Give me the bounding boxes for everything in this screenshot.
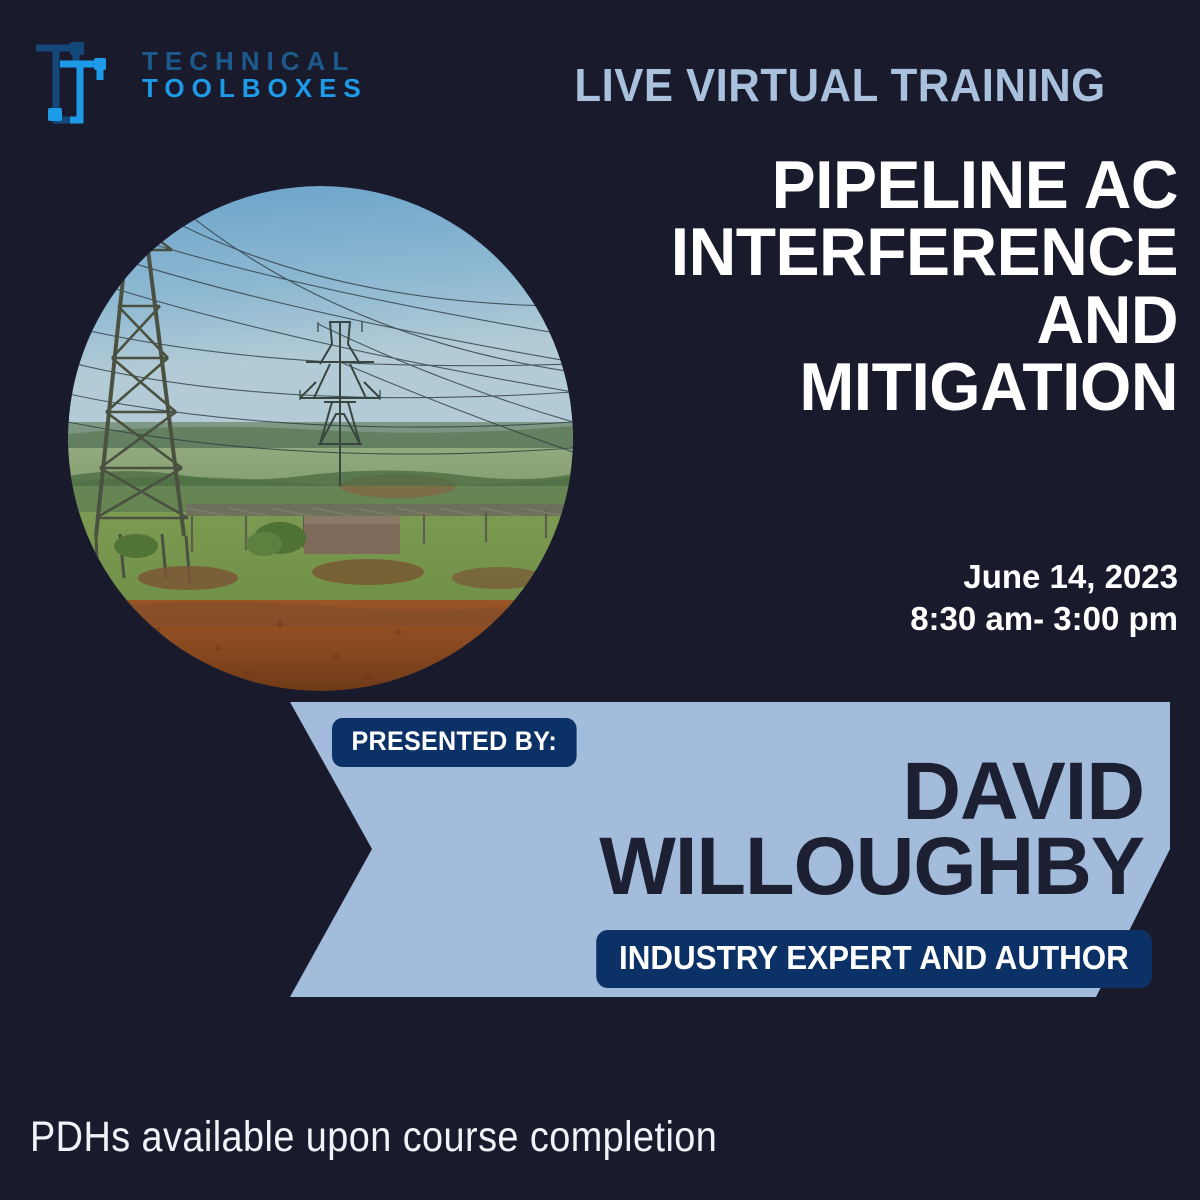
brand-wordmark-line2: TOOLBOXES [142,75,368,102]
speaker-first-name: DAVID [312,754,1144,829]
brand-logo: TECHNICAL TOOLBOXES [30,34,370,114]
page-title-line-1: PIPELINE AC [538,152,1178,219]
event-time: 8:30 am- 3:00 pm [518,598,1178,640]
speaker-role-badge: INDUSTRY EXPERT AND AUTHOR [597,930,1152,988]
page-title-line-2: INTERFERENCE [538,219,1178,286]
technical-toolboxes-tt-monogram-icon [30,34,130,134]
pdh-note: PDHs available upon course completion [30,1113,717,1162]
eyebrow-label: LIVE VIRTUAL TRAINING [517,58,1163,112]
brand-wordmark-line1: TECHNICAL [142,48,368,75]
page-title-line-3: AND [538,287,1178,354]
transmission-tower-photo [68,186,573,691]
page-title-line-4: MITIGATION [538,354,1178,421]
brand-wordmark: TECHNICAL TOOLBOXES [142,48,368,103]
event-schedule: June 14, 2023 8:30 am- 3:00 pm [518,556,1178,639]
event-date: June 14, 2023 [518,556,1178,598]
poster-canvas: TECHNICAL TOOLBOXES LIVE VIRTUAL TRAININ… [0,0,1200,1200]
page-title: PIPELINE AC INTERFERENCE AND MITIGATION [538,152,1178,421]
presenter-banner: PRESENTED BY: DAVID WILLOUGHBY INDUSTRY … [290,702,1170,997]
speaker-name: DAVID WILLOUGHBY [312,754,1144,905]
speaker-last-name: WILLOUGHBY [312,829,1144,904]
